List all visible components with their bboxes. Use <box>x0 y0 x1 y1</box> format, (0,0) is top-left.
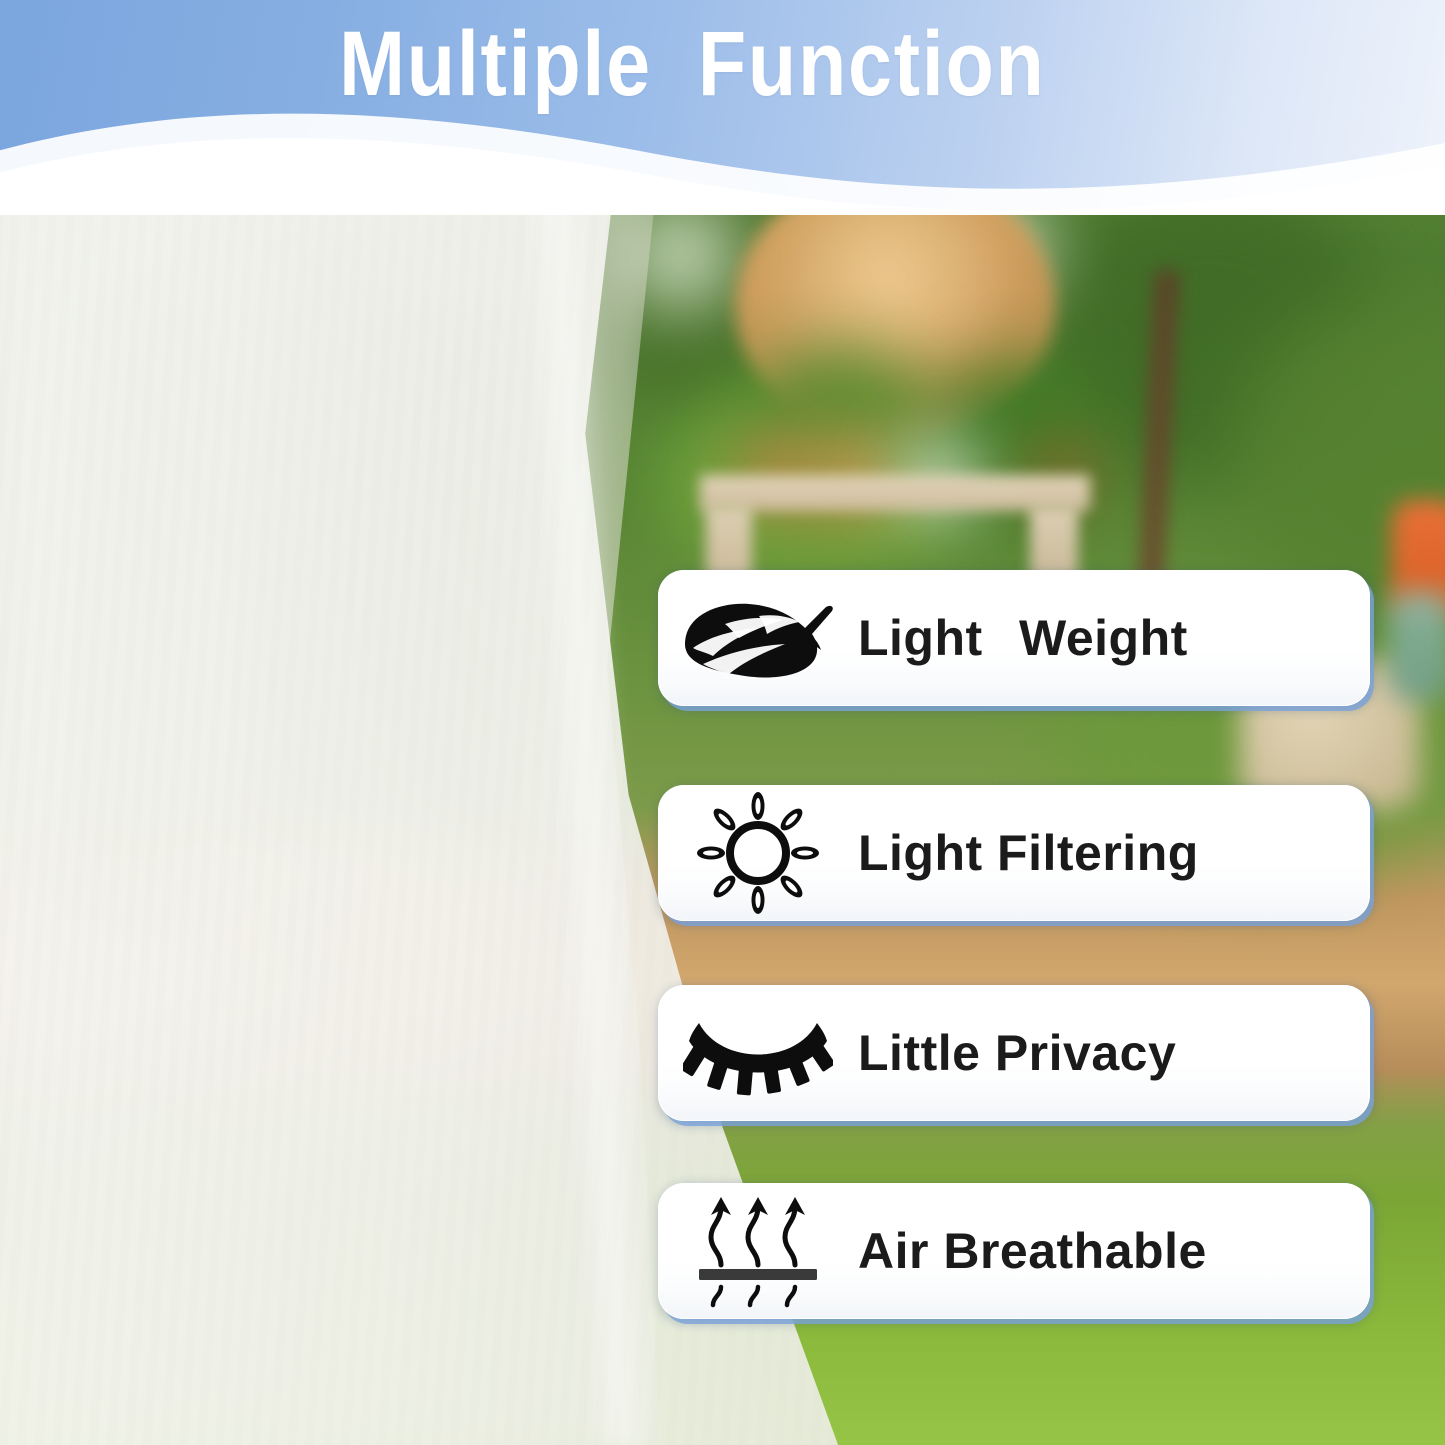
closed-eye-icon <box>658 985 858 1121</box>
feature-label: Air Breathable <box>858 1222 1370 1280</box>
feature-pill-little-privacy[interactable]: Little Privacy <box>658 985 1370 1121</box>
feature-pill-light-filtering[interactable]: Light Filtering <box>658 785 1370 921</box>
feature-pill-air-breathable[interactable]: Air Breathable <box>658 1183 1370 1319</box>
feature-label: Light Weight <box>858 609 1370 667</box>
header-wave-divider <box>0 89 1445 215</box>
sun-icon <box>658 785 858 921</box>
feature-label: Little Privacy <box>858 1024 1370 1082</box>
product-feature-graphic: Multiple Function Light Weight <box>0 0 1445 1445</box>
feature-pill-light-weight[interactable]: Light Weight <box>658 570 1370 706</box>
feather-icon <box>658 570 858 706</box>
air-flow-icon <box>658 1183 858 1319</box>
teal-object <box>1388 590 1445 700</box>
feature-label: Light Filtering <box>858 824 1370 882</box>
header-banner: Multiple Function <box>0 0 1445 215</box>
